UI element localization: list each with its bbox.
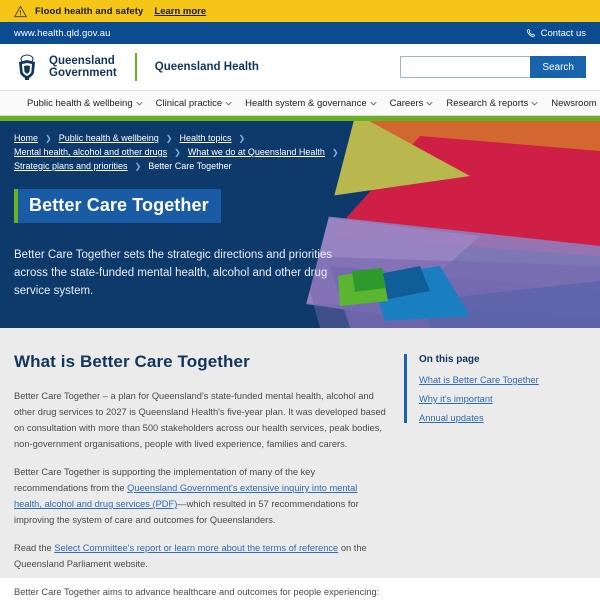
chevron-down-icon xyxy=(426,101,433,106)
masthead: Queensland Government Queensland Health … xyxy=(0,44,600,90)
brand-government: Government xyxy=(49,67,117,80)
paragraph-intro: Better Care Together – a plan for Queens… xyxy=(14,388,386,452)
warning-triangle-icon xyxy=(14,5,27,18)
on-this-page-title: On this page xyxy=(419,354,584,365)
chevron-down-icon xyxy=(370,101,377,106)
breadcrumb-item-health-topics[interactable]: Health topics xyxy=(180,133,232,143)
main-navigation: Public health & wellbeing Clinical pract… xyxy=(0,90,600,116)
alert-learn-more-link[interactable]: Learn more xyxy=(154,6,206,17)
paragraph-inquiry: Better Care Together is supporting the i… xyxy=(14,464,386,528)
main-content: What is Better Care Together Better Care… xyxy=(0,328,600,578)
hero-content: Home ❯ Public health & wellbeing ❯ Healt… xyxy=(14,133,359,300)
chevron-down-icon xyxy=(136,101,143,106)
alert-message: Flood health and safety xyxy=(35,6,143,17)
breadcrumb-item-strategic-plans-priorities[interactable]: Strategic plans and priorities xyxy=(14,161,128,171)
phone-icon xyxy=(526,28,536,38)
breadcrumb-separator-icon: ❯ xyxy=(332,148,339,157)
brand-queensland-health: Queensland Health xyxy=(155,61,259,73)
page-title: Better Care Together xyxy=(18,189,221,223)
nav-item-health-system-governance[interactable]: Health system & governance xyxy=(245,98,376,109)
nav-item-careers[interactable]: Careers xyxy=(390,98,434,109)
content-column: What is Better Care Together Better Care… xyxy=(14,352,386,578)
utility-bar: www.health.qld.gov.au Contact us xyxy=(0,22,600,44)
brand-lockup[interactable]: Queensland Government Queensland Health xyxy=(14,53,259,81)
breadcrumb-item-mental-health-alcohol-other-drugs[interactable]: Mental health, alcohol and other drugs xyxy=(14,147,167,157)
nav-item-clinical-practice[interactable]: Clinical practice xyxy=(156,98,233,109)
contact-us-link[interactable]: Contact us xyxy=(526,28,586,39)
section-heading-what-is-better-care-together: What is Better Care Together xyxy=(14,352,386,372)
brand-divider xyxy=(135,53,137,81)
hero-banner: Home ❯ Public health & wellbeing ❯ Healt… xyxy=(0,116,600,328)
page-title-block: Better Care Together xyxy=(14,189,221,223)
paragraph-select-committee: Read the Select Committee's report or le… xyxy=(14,540,386,572)
nav-label: Clinical practice xyxy=(156,98,223,109)
breadcrumb: Home ❯ Public health & wellbeing ❯ Healt… xyxy=(14,133,359,171)
on-this-page-panel: On this page What is Better Care Togethe… xyxy=(404,354,584,423)
chevron-down-icon xyxy=(225,101,232,106)
paragraph-committee-lead: Read the xyxy=(14,543,54,553)
sidebar-column: On this page What is Better Care Togethe… xyxy=(404,352,584,578)
paragraph-aims: Better Care Together aims to advance hea… xyxy=(14,584,386,600)
nav-label: Health system & governance xyxy=(245,98,366,109)
select-committee-report-link[interactable]: Select Committee's report or learn more … xyxy=(54,543,338,553)
breadcrumb-separator-icon: ❯ xyxy=(135,162,142,171)
breadcrumb-item-home[interactable]: Home xyxy=(14,133,38,143)
nav-label: Research & reports xyxy=(446,98,528,109)
nav-item-newsroom[interactable]: Newsroom xyxy=(551,98,600,109)
hero-green-accent-bar xyxy=(0,116,600,121)
breadcrumb-item-public-health-wellbeing[interactable]: Public health & wellbeing xyxy=(59,133,159,143)
search-box: Search xyxy=(400,56,586,78)
chevron-down-icon xyxy=(531,101,538,106)
breadcrumb-separator-icon: ❯ xyxy=(239,134,246,143)
on-this-page-link-why-its-important[interactable]: Why it's important xyxy=(419,394,584,404)
hero-description: Better Care Together sets the strategic … xyxy=(14,246,344,300)
nav-item-public-health-wellbeing[interactable]: Public health & wellbeing xyxy=(27,98,143,109)
on-this-page-link-what-is-better-care-together[interactable]: What is Better Care Together xyxy=(419,375,584,385)
qld-government-crest-icon xyxy=(14,53,40,81)
breadcrumb-item-what-we-do[interactable]: What we do at Queensland Health xyxy=(188,147,325,157)
contact-us-label: Contact us xyxy=(541,28,586,39)
nav-label: Careers xyxy=(390,98,424,109)
breadcrumb-separator-icon: ❯ xyxy=(45,134,52,143)
breadcrumb-item-current: Better Care Together xyxy=(148,161,231,171)
breadcrumb-separator-icon: ❯ xyxy=(174,148,181,157)
breadcrumb-separator-icon: ❯ xyxy=(166,134,173,143)
site-url: www.health.qld.gov.au xyxy=(14,28,110,39)
nav-label: Public health & wellbeing xyxy=(27,98,133,109)
on-this-page-link-annual-updates[interactable]: Annual updates xyxy=(419,413,584,423)
brand-queensland: Queensland xyxy=(49,55,117,68)
nav-label: Newsroom xyxy=(551,98,596,109)
nav-item-research-reports[interactable]: Research & reports xyxy=(446,98,538,109)
alert-banner: Flood health and safety Learn more xyxy=(0,0,600,22)
search-button[interactable]: Search xyxy=(530,56,586,78)
search-input[interactable] xyxy=(400,56,530,78)
